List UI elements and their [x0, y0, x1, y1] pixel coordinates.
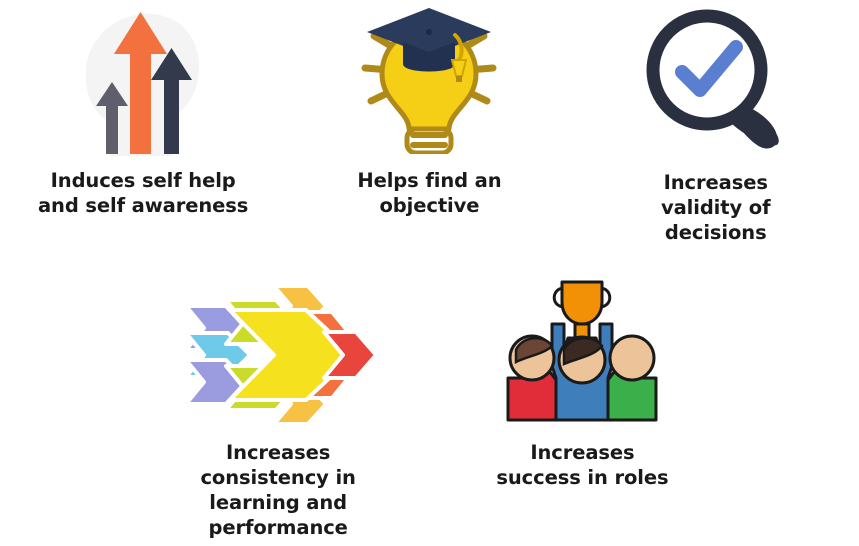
- infographic-canvas: Induces self help and self awareness: [0, 0, 859, 546]
- infographic-item-4-label: Increases consistency in learning and pe…: [173, 440, 383, 541]
- row-spacer-middle: [421, 272, 439, 546]
- infographic-item-5: Increases success in roles: [439, 272, 725, 546]
- infographic-item-3: Increases validity of decisions: [573, 0, 859, 262]
- infographic-item-4: Increases consistency in learning and pe…: [135, 272, 421, 546]
- team-trophy-icon: [494, 274, 670, 424]
- lightbulb-graduation-cap-icon: [345, 2, 513, 154]
- row-spacer-left: [0, 272, 135, 546]
- magnifier-checkmark-icon: [641, 6, 791, 154]
- infographic-item-2-label: Helps find an objective: [324, 168, 534, 218]
- infographic-item-3-label: Increases validity of decisions: [621, 170, 811, 245]
- growth-arrows-head-icon: [68, 4, 218, 156]
- infographic-row-top: Induces self help and self awareness: [0, 0, 859, 262]
- infographic-item-2: Helps find an objective: [286, 0, 572, 262]
- converging-arrows-icon: [178, 276, 378, 424]
- infographic-item-1-label: Induces self help and self awareness: [28, 168, 258, 218]
- infographic-item-5-label: Increases success in roles: [487, 440, 677, 490]
- infographic-item-1: Induces self help and self awareness: [0, 0, 286, 262]
- infographic-row-bottom: Increases consistency in learning and pe…: [0, 272, 859, 546]
